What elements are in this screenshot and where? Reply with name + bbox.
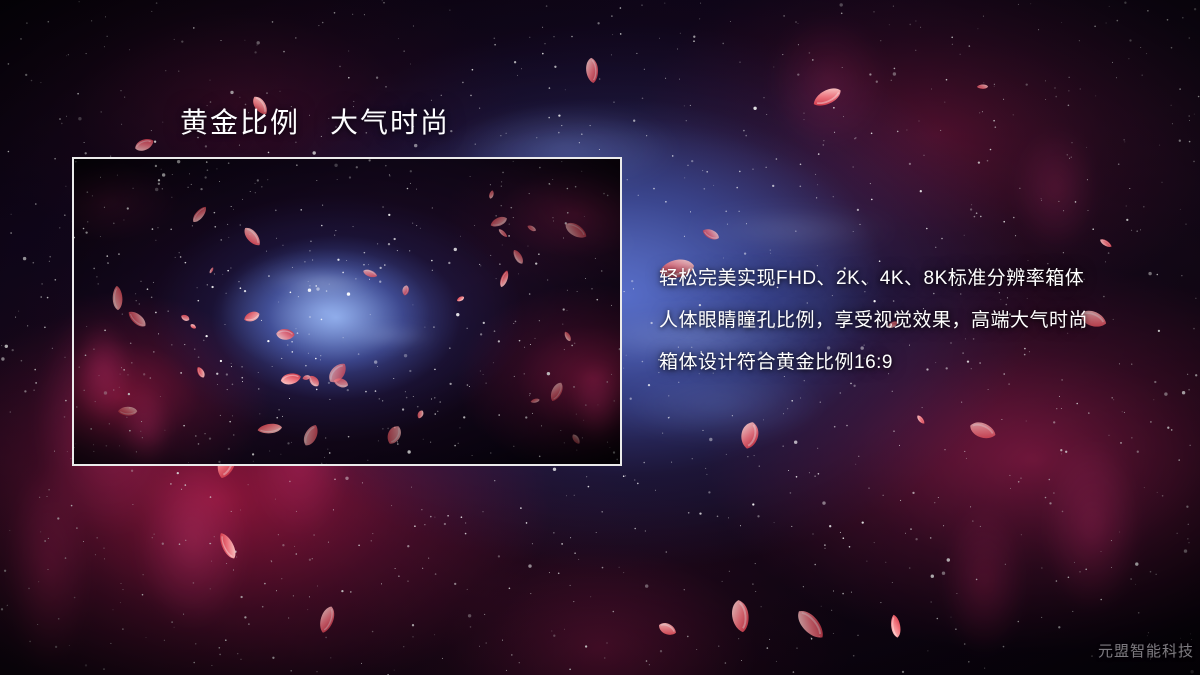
body-line-2: 人体眼睛瞳孔比例，享受视觉效果，高端大气时尚	[659, 300, 1179, 342]
presentation-slide: 黄金比例 大气时尚 轻松完美实现FHD、2K、4K、8K标准分辨率箱体 人体眼睛…	[0, 0, 1200, 675]
body-copy: 轻松完美实现FHD、2K、4K、8K标准分辨率箱体 人体眼睛瞳孔比例，享受视觉效…	[659, 258, 1179, 384]
preview-vignette	[74, 159, 620, 464]
body-line-1: 轻松完美实现FHD、2K、4K、8K标准分辨率箱体	[659, 258, 1179, 300]
body-line-3: 箱体设计符合黄金比例16:9	[659, 342, 1179, 384]
watermark: 元盟智能科技	[1098, 640, 1194, 661]
preview-frame[interactable]	[72, 157, 622, 466]
page-title: 黄金比例 大气时尚	[180, 101, 450, 141]
